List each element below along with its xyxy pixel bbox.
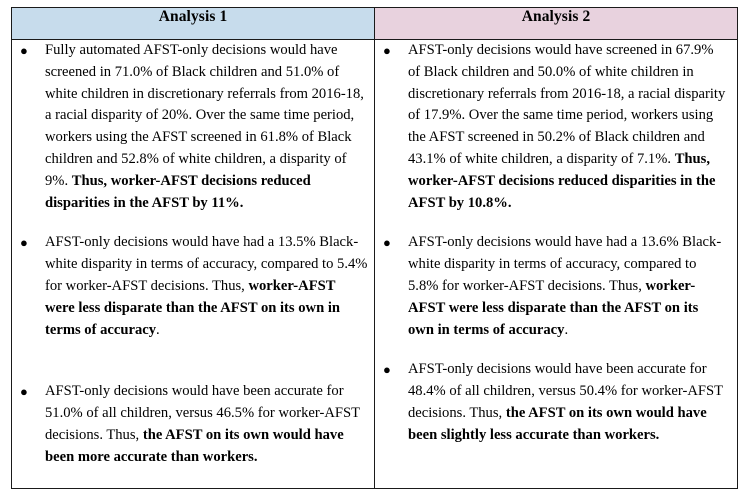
- list-item: ● AFST-only decisions would have had a 1…: [375, 232, 737, 341]
- bullet-list-analysis-1: ● Fully automated AFST-only decisions wo…: [12, 40, 374, 469]
- page-canvas: Analysis 1 Analysis 2 ● Fully automated …: [0, 0, 748, 501]
- list-item: ● AFST-only decisions would have screene…: [375, 40, 737, 214]
- bullet-icon: ●: [20, 40, 28, 62]
- list-item-text: AFST-only decisions would have had a 13.…: [408, 234, 721, 337]
- list-item-text: Fully automated AFST-only decisions woul…: [45, 42, 364, 211]
- bullet-icon: ●: [20, 232, 28, 254]
- bullet-list-analysis-2: ● AFST-only decisions would have screene…: [375, 40, 737, 447]
- cell-analysis-2: ● AFST-only decisions would have screene…: [375, 40, 738, 489]
- table-content-row: ● Fully automated AFST-only decisions wo…: [12, 40, 738, 489]
- bullet-icon: ●: [20, 381, 28, 403]
- cell-analysis-1: ● Fully automated AFST-only decisions wo…: [12, 40, 375, 489]
- column-header-analysis-1: Analysis 1: [12, 8, 375, 40]
- analysis-comparison-table: Analysis 1 Analysis 2 ● Fully automated …: [11, 7, 738, 489]
- table-body: ● Fully automated AFST-only decisions wo…: [12, 40, 738, 489]
- list-item: ● AFST-only decisions would have had a 1…: [12, 232, 374, 341]
- table-header-row: Analysis 1 Analysis 2: [12, 8, 738, 40]
- column-header-analysis-2: Analysis 2: [375, 8, 738, 40]
- list-item-text: AFST-only decisions would have been accu…: [45, 383, 360, 464]
- bullet-icon: ●: [383, 232, 391, 254]
- list-item: ● AFST-only decisions would have been ac…: [375, 359, 737, 446]
- list-item-text: AFST-only decisions would have been accu…: [408, 361, 723, 442]
- list-item-text: AFST-only decisions would have screened …: [408, 42, 725, 211]
- list-item: ● AFST-only decisions would have been ac…: [12, 381, 374, 468]
- list-item: ● Fully automated AFST-only decisions wo…: [12, 40, 374, 214]
- table-header-row-group: Analysis 1 Analysis 2: [12, 8, 738, 40]
- list-item-text: AFST-only decisions would have had a 13.…: [45, 234, 367, 337]
- bullet-icon: ●: [383, 359, 391, 381]
- bullet-icon: ●: [383, 40, 391, 62]
